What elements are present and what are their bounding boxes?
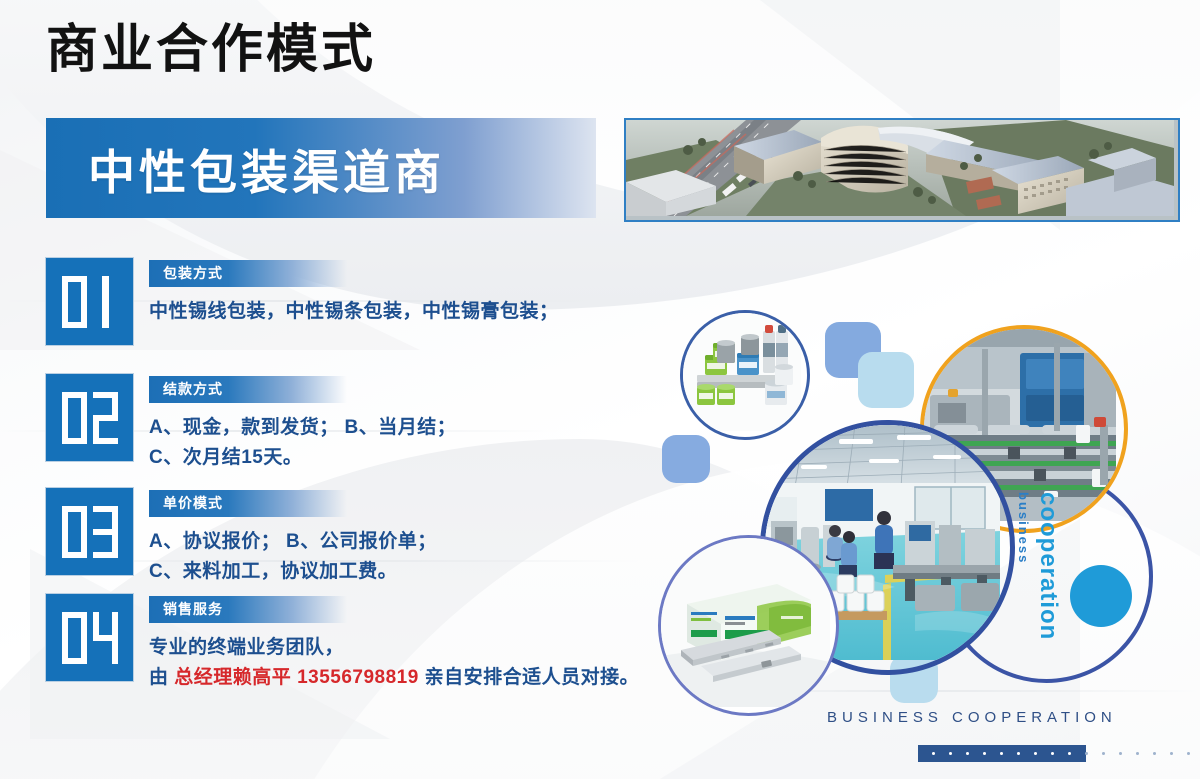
contact-suffix: 亲自安排合适人员对接。 bbox=[419, 667, 639, 688]
visual-composition bbox=[640, 290, 1200, 720]
footer-dot bbox=[983, 752, 986, 755]
footer-dot bbox=[1187, 752, 1190, 755]
digit-two bbox=[93, 392, 118, 444]
item-lines: 中性锡线包装，中性锡条包装，中性锡膏包装； bbox=[149, 297, 559, 326]
item-lines: A、协议报价； B、公司报价单； C、来料加工，协议加工费。 bbox=[149, 527, 437, 586]
item-number-badge bbox=[46, 374, 133, 461]
digit-one bbox=[93, 276, 118, 328]
headline-text: 中性包装渠道商 bbox=[88, 134, 445, 203]
footer-dot bbox=[966, 752, 969, 755]
item-body: 结款方式 A、现金，款到发货； B、当月结； C、次月结15天。 bbox=[149, 374, 456, 472]
item-lines: 专业的终端业务团队， 由 总经理赖高平 13556798819 亲自安排合适人员… bbox=[149, 633, 639, 692]
headline-banner: 中性包装渠道商 bbox=[46, 118, 596, 218]
vertical-label-business: business bbox=[1014, 492, 1032, 564]
digit-zero bbox=[62, 392, 87, 444]
contact-phone: 13556798819 bbox=[297, 667, 419, 688]
item-number-badge bbox=[46, 488, 133, 575]
footer-dot bbox=[1136, 752, 1139, 755]
digit-group-03 bbox=[62, 506, 118, 558]
footer-dot bbox=[1085, 752, 1088, 755]
item-body: 单价模式 A、协议报价； B、公司报价单； C、来料加工，协议加工费。 bbox=[149, 488, 437, 586]
footer-dot bbox=[1034, 752, 1037, 755]
footer-dot bbox=[1170, 752, 1173, 755]
digit-group-02 bbox=[62, 392, 118, 444]
footer-dot bbox=[1153, 752, 1156, 755]
list-item: 包装方式 中性锡线包装，中性锡条包装，中性锡膏包装； bbox=[46, 258, 559, 345]
decor-solid-blue-dot bbox=[1070, 565, 1132, 627]
decor-rounded-square-blue-left bbox=[662, 435, 710, 483]
item-contact-line: 由 总经理赖高平 13556798819 亲自安排合适人员对接。 bbox=[149, 663, 639, 692]
footer-dot bbox=[1051, 752, 1054, 755]
list-item: 结款方式 A、现金，款到发货； B、当月结； C、次月结15天。 bbox=[46, 374, 456, 472]
digit-zero bbox=[62, 276, 87, 328]
aerial-campus-illustration bbox=[626, 120, 1174, 216]
vertical-label-business-text: business bbox=[1016, 492, 1031, 564]
footer-dot bbox=[1119, 752, 1122, 755]
item-lines: A、现金，款到发货； B、当月结； C、次月结15天。 bbox=[149, 413, 456, 472]
item-number-badge bbox=[46, 258, 133, 345]
item-tag: 结款方式 bbox=[149, 376, 347, 403]
aerial-corporate-campus-photo bbox=[624, 118, 1180, 222]
digit-three bbox=[93, 506, 118, 558]
digit-group-04 bbox=[62, 612, 118, 664]
vertical-label-cooperation: cooperation bbox=[1034, 492, 1062, 640]
page-title: 商业合作模式 bbox=[46, 24, 376, 76]
contact-prefix: 由 bbox=[149, 667, 174, 688]
item-tag: 包装方式 bbox=[149, 260, 347, 287]
poster-root: 商业合作模式 中性包装渠道商 bbox=[0, 0, 1200, 779]
solder-products-photo bbox=[680, 310, 810, 440]
footer-caption: BUSINESS COOPERATION bbox=[827, 709, 1117, 726]
list-item: 单价模式 A、协议报价； B、公司报价单； C、来料加工，协议加工费。 bbox=[46, 488, 437, 586]
item-tag: 销售服务 bbox=[149, 596, 347, 623]
digit-group-01 bbox=[62, 276, 118, 328]
solder-bar-box-photo bbox=[658, 535, 839, 716]
digit-zero bbox=[62, 612, 87, 664]
item-line: 中性锡线包装，中性锡条包装，中性锡膏包装； bbox=[149, 297, 559, 326]
item-tag: 单价模式 bbox=[149, 490, 347, 517]
list-item: 销售服务 专业的终端业务团队， 由 总经理赖高平 13556798819 亲自安… bbox=[46, 594, 639, 692]
footer-dot bbox=[1102, 752, 1105, 755]
digit-four bbox=[93, 612, 118, 664]
footer-dot bbox=[1000, 752, 1003, 755]
solder-products-illustration bbox=[683, 313, 801, 431]
item-number-badge bbox=[46, 594, 133, 681]
footer-dot bbox=[1017, 752, 1020, 755]
footer-dot bbox=[932, 752, 935, 755]
footer-dot bbox=[1068, 752, 1071, 755]
item-line: 专业的终端业务团队， bbox=[149, 633, 639, 662]
item-body: 包装方式 中性锡线包装，中性锡条包装，中性锡膏包装； bbox=[149, 258, 559, 327]
digit-zero bbox=[62, 506, 87, 558]
footer-dots bbox=[918, 745, 1200, 762]
solder-box-illustration bbox=[661, 538, 830, 707]
item-line: C、次月结15天。 bbox=[149, 443, 456, 472]
decor-rounded-square-cyan bbox=[858, 352, 914, 408]
item-body: 销售服务 专业的终端业务团队， 由 总经理赖高平 13556798819 亲自安… bbox=[149, 594, 639, 692]
footer-dot bbox=[949, 752, 952, 755]
item-line: C、来料加工，协议加工费。 bbox=[149, 557, 437, 586]
item-line: A、协议报价； B、公司报价单； bbox=[149, 527, 437, 556]
item-line: A、现金，款到发货； B、当月结； bbox=[149, 413, 456, 442]
contact-manager: 总经理赖高平 bbox=[174, 667, 291, 688]
